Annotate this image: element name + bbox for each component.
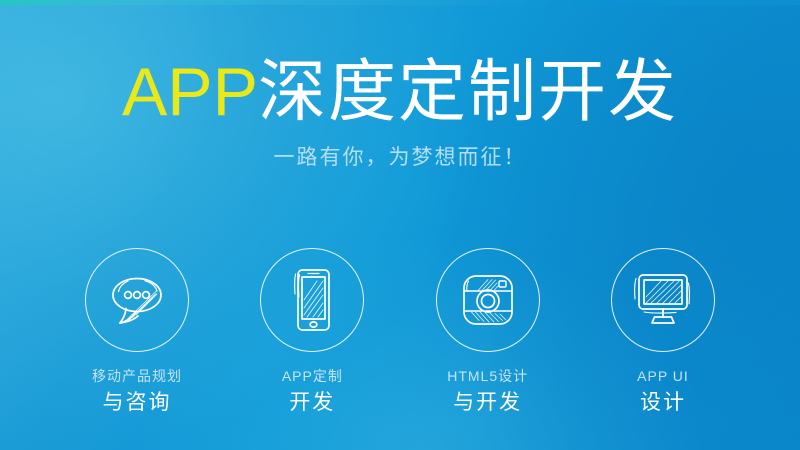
feature-icon-circle <box>611 248 715 352</box>
feature-caption: APP UI 设计 <box>637 369 689 413</box>
feature-caption: HTML5设计 与开发 <box>447 369 528 413</box>
smartphone-icon <box>287 267 337 333</box>
feature-item-html5[interactable]: HTML5设计 与开发 <box>403 248 573 413</box>
title-rest: 深度定制开发 <box>258 54 678 130</box>
feature-caption-line2: 与咨询 <box>92 392 182 413</box>
feature-item-app-development[interactable]: APP定制 开发 <box>227 248 397 413</box>
feature-icon-circle <box>436 248 540 352</box>
feature-caption-line1: APP UI <box>637 369 689 383</box>
feature-item-ui-design[interactable]: APP UI 设计 <box>578 248 748 413</box>
feature-caption: APP定制 开发 <box>282 369 343 413</box>
page-subtitle: 一路有你，为梦想而征！ <box>0 147 800 168</box>
page-title: APP深度定制开发 <box>0 58 800 126</box>
feature-caption-line2: 设计 <box>637 392 689 413</box>
feature-icon-circle <box>260 248 364 352</box>
feature-item-consulting[interactable]: 移动产品规划 与咨询 <box>52 248 222 413</box>
feature-caption: 移动产品规划 与咨询 <box>92 369 182 413</box>
feature-caption-line2: 开发 <box>282 392 343 413</box>
feature-icon-circle <box>85 248 189 352</box>
feature-caption-line1: 移动产品规划 <box>92 369 182 383</box>
speech-bubble-icon <box>106 271 168 329</box>
feature-caption-line2: 与开发 <box>447 392 528 413</box>
feature-caption-line1: APP定制 <box>282 369 343 383</box>
heading-group: APP深度定制开发 一路有你，为梦想而征！ <box>0 58 800 168</box>
feature-caption-line1: HTML5设计 <box>447 369 528 383</box>
camera-icon <box>457 269 519 331</box>
title-accent: APP <box>122 54 258 130</box>
banner-root: APP深度定制开发 一路有你，为梦想而征！ <box>0 0 800 450</box>
feature-list: 移动产品规划 与咨询 <box>0 248 800 413</box>
desktop-monitor-icon <box>630 271 696 329</box>
